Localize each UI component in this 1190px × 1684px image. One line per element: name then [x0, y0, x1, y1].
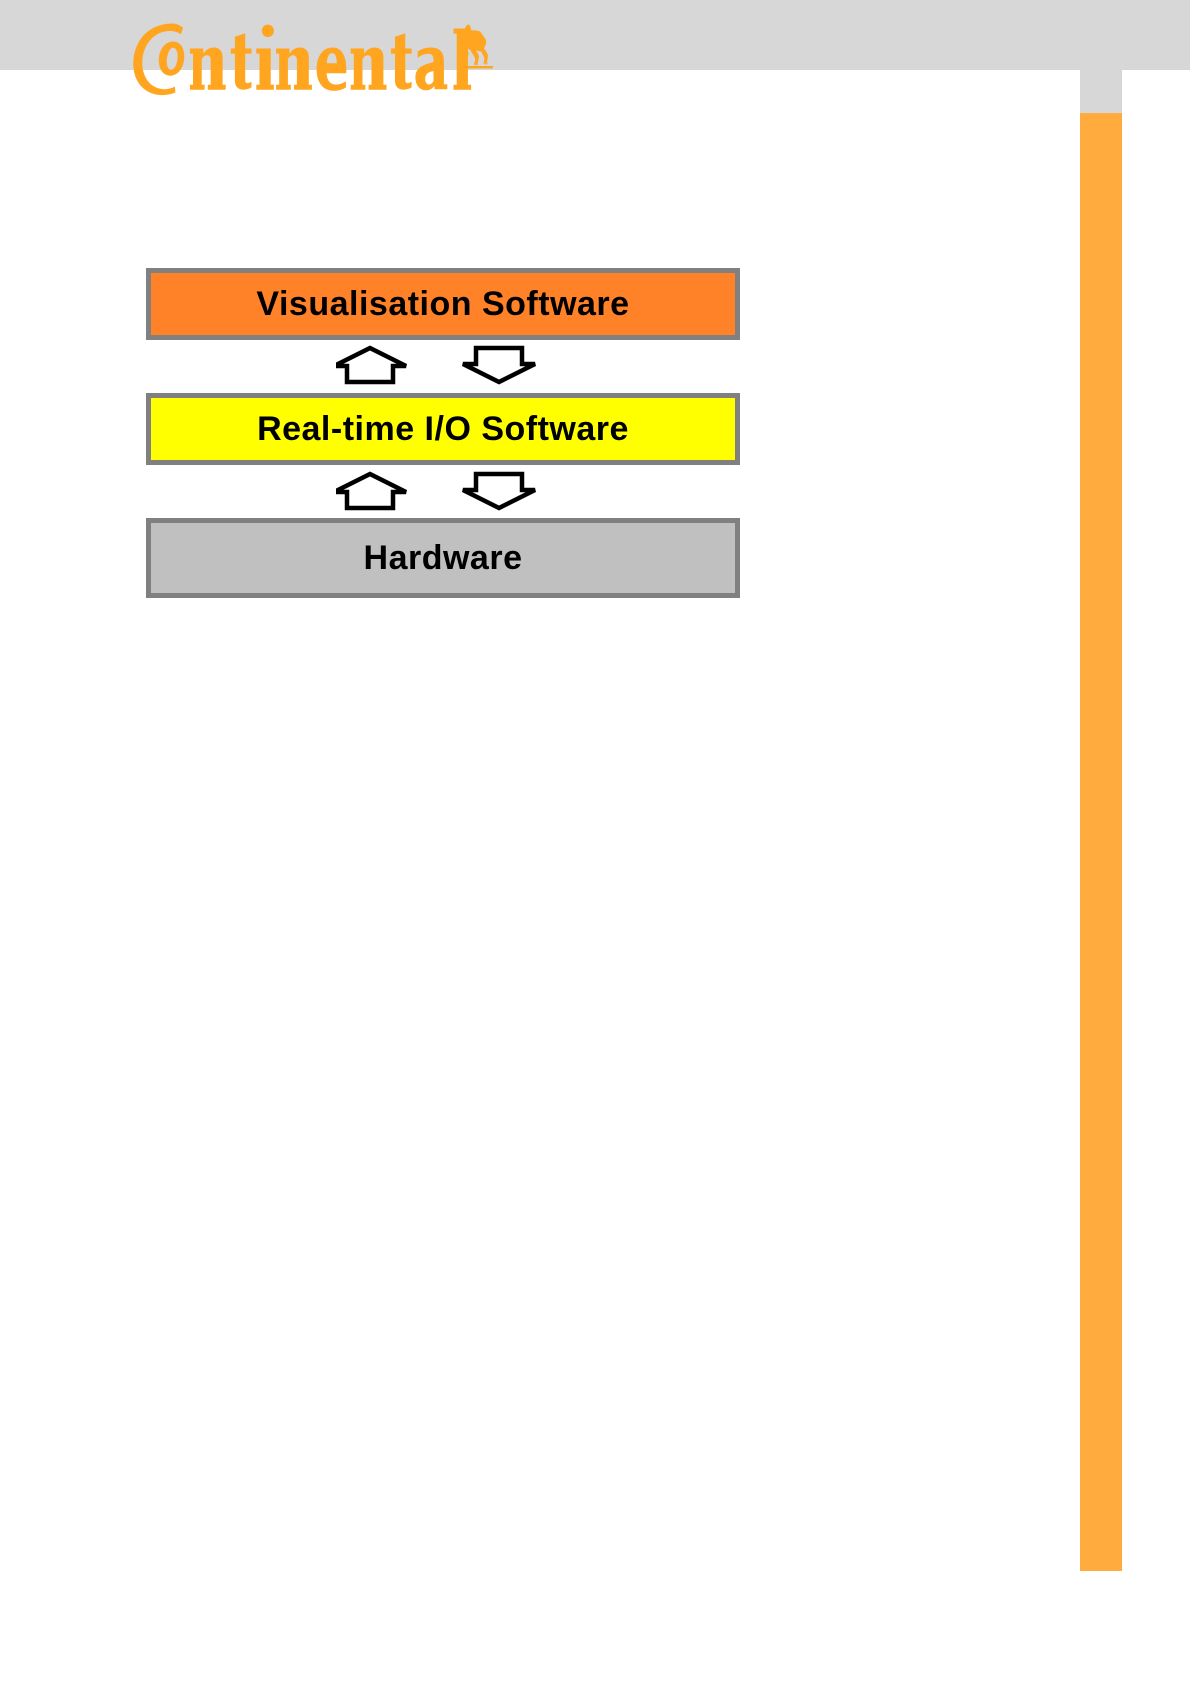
diagram-layer-visualisation-software: Visualisation Software — [146, 268, 740, 340]
arrow-up-icon — [336, 348, 406, 382]
software-architecture-diagram: Visualisation Software Real-time I/O Sof… — [146, 268, 740, 598]
connector-visualisation-to-rtio — [336, 344, 556, 386]
connector-rtio-to-hardware — [336, 470, 556, 512]
logo-wordmark-glyphs — [133, 24, 471, 96]
layer-label-real-time-io-software: Real-time I/O Software — [257, 412, 629, 446]
document-page: Visualisation Software Real-time I/O Sof… — [0, 0, 1190, 1684]
diagram-layer-hardware: Hardware — [146, 518, 740, 598]
layer-label-hardware: Hardware — [364, 541, 523, 575]
layer-label-visualisation-software: Visualisation Software — [256, 287, 629, 321]
right-rail-orange-bar — [1080, 113, 1122, 1571]
arrow-down-icon — [463, 348, 535, 382]
arrow-up-icon — [336, 474, 406, 508]
diagram-layer-real-time-io-software: Real-time I/O Software — [146, 393, 740, 465]
arrow-down-icon — [463, 474, 535, 508]
right-rail-grey-segment — [1080, 70, 1122, 113]
prancing-horse-icon — [460, 24, 493, 68]
continental-logo — [131, 18, 496, 96]
